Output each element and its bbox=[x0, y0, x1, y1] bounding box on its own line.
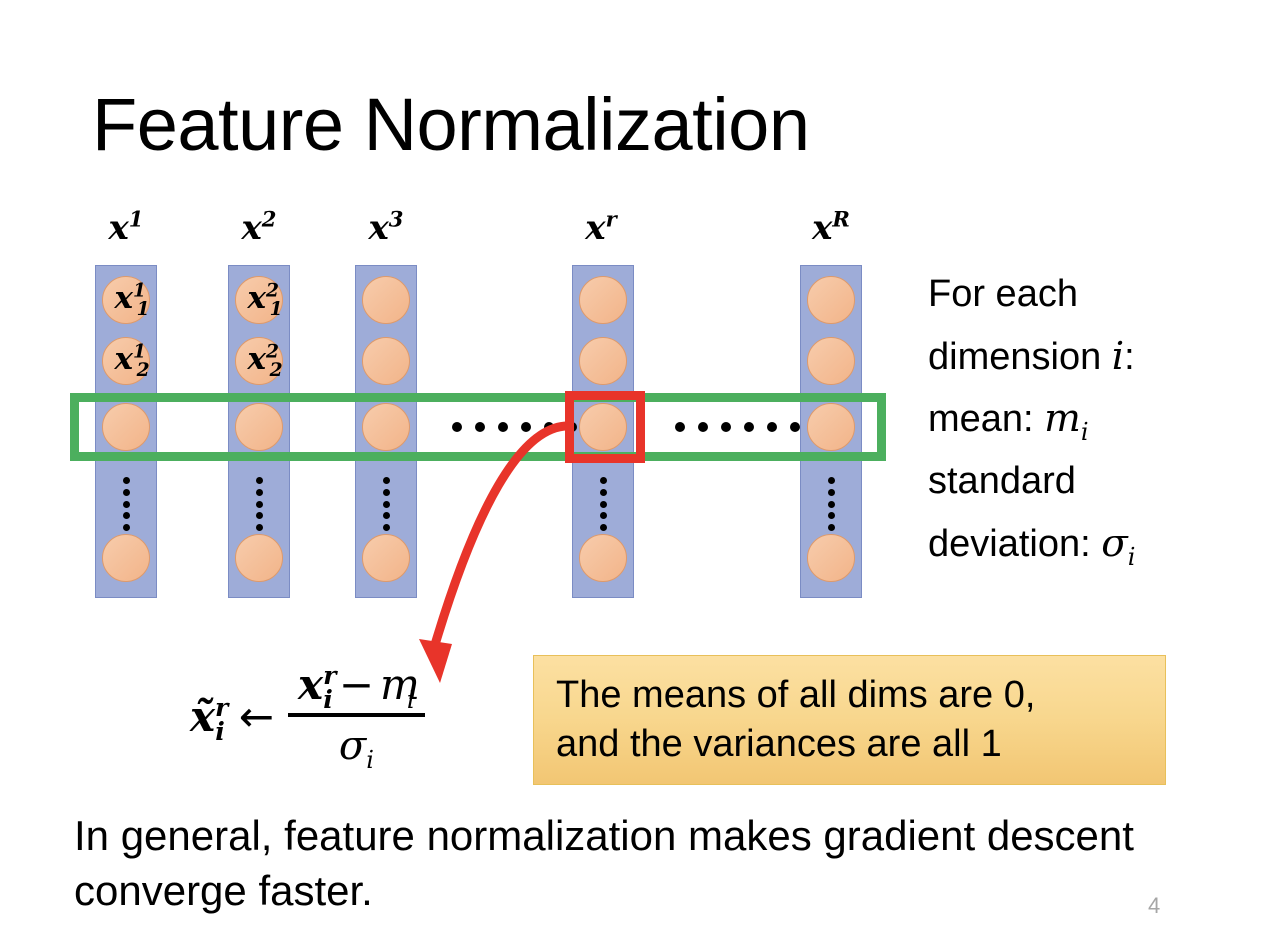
matrix-node-1-2-label: x12 bbox=[114, 341, 149, 377]
page-number: 4 bbox=[1148, 893, 1160, 919]
dimension-index-var: i bbox=[1112, 334, 1124, 379]
column-header-xr-text: xr bbox=[585, 208, 616, 248]
column-header-x3-text: x3 bbox=[369, 208, 404, 248]
column-header-x1-text: x1 bbox=[109, 208, 144, 248]
matrix-node-r-2 bbox=[579, 337, 627, 385]
explanation-line-2: dimension i: bbox=[928, 326, 1248, 389]
explanation-block: For each dimension i: mean: mi standard … bbox=[928, 264, 1248, 575]
matrix-node-1-1: x11 bbox=[102, 276, 150, 324]
page-title: Feature Normalization bbox=[92, 88, 809, 162]
matrix-node-R-2 bbox=[807, 337, 855, 385]
slide-canvas: Feature Normalization x1 x2 x3 xr xR x11… bbox=[0, 0, 1268, 952]
matrix-node-1-1-label: x11 bbox=[114, 280, 149, 316]
matrix-node-r-1 bbox=[579, 276, 627, 324]
formula-numerator: xri−mi bbox=[288, 660, 425, 713]
explanation-line-5: deviation: σi bbox=[928, 513, 1248, 576]
formula-fraction: xri−mi σi bbox=[288, 660, 425, 769]
explanation-line-4: standard bbox=[928, 451, 1248, 513]
callout-box: The means of all dims are 0, and the var… bbox=[533, 655, 1166, 785]
formula-assign-arrow: ← bbox=[239, 692, 274, 741]
matrix-node-2-2: x22 bbox=[235, 337, 283, 385]
matrix-node-3-2 bbox=[362, 337, 410, 385]
formula-lhs: x̃ri bbox=[190, 692, 225, 741]
matrix-node-R-1 bbox=[807, 276, 855, 324]
column-header-xR: xR bbox=[800, 208, 862, 248]
callout-line-2: and the variances are all 1 bbox=[556, 720, 1143, 769]
normalization-formula: x̃ri ← xri−mi σi bbox=[190, 660, 425, 769]
matrix-node-2-last bbox=[235, 534, 283, 582]
matrix-node-R-last bbox=[807, 534, 855, 582]
mean-var: mi bbox=[1044, 396, 1088, 441]
matrix-node-2-2-label: x22 bbox=[247, 341, 282, 377]
sigma-var: σi bbox=[1101, 521, 1135, 566]
matrix-node-1-2: x12 bbox=[102, 337, 150, 385]
matrix-node-1-last bbox=[102, 534, 150, 582]
column-header-x3: x3 bbox=[355, 208, 417, 248]
callout-line-1: The means of all dims are 0, bbox=[556, 671, 1143, 720]
explanation-line-3: mean: mi bbox=[928, 388, 1248, 451]
column-header-x2-text: x2 bbox=[242, 208, 277, 248]
column-header-x2: x2 bbox=[228, 208, 290, 248]
formula-denominator: σi bbox=[329, 717, 384, 769]
column-header-xr: xr bbox=[570, 208, 632, 248]
matrix-node-2-1: x21 bbox=[235, 276, 283, 324]
matrix-node-3-1 bbox=[362, 276, 410, 324]
summary-text: In general, feature normalization makes … bbox=[74, 808, 1234, 919]
explanation-line-1: For each bbox=[928, 264, 1248, 326]
column-header-xR-text: xR bbox=[812, 208, 850, 248]
curved-arrow-icon bbox=[400, 400, 600, 690]
column-header-x1: x1 bbox=[95, 208, 157, 248]
matrix-node-2-1-label: x21 bbox=[247, 280, 282, 316]
